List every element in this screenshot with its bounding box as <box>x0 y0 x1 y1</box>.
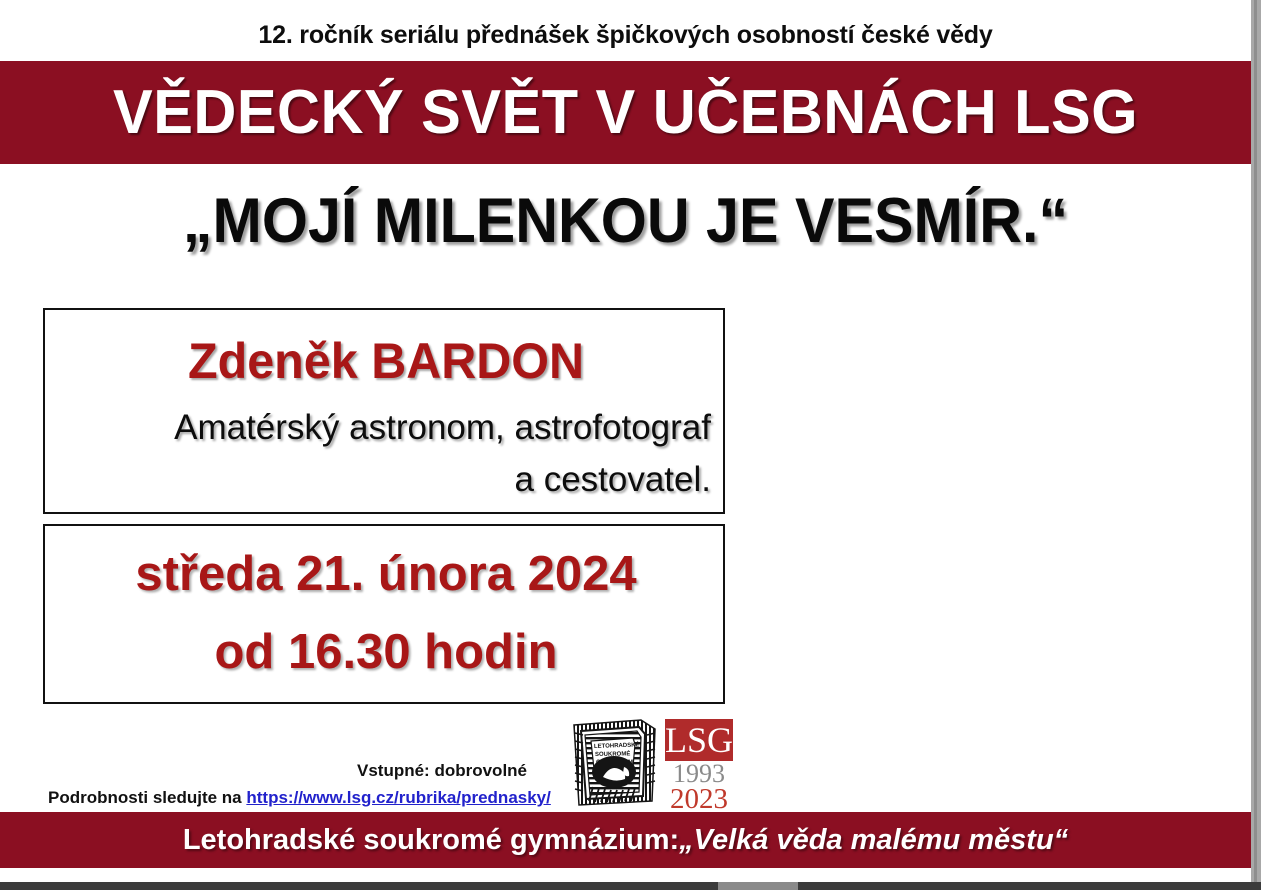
main-title-text: VĚDECKÝ SVĚT V UČEBNÁCH LSG <box>25 61 1226 164</box>
series-kicker-text: 12. ročník seriálu přednášek špičkových … <box>0 21 1251 50</box>
details-line: Podrobnosti sledujte na https://www.lsg.… <box>48 788 551 808</box>
school-logo: LETOHRADSKÉ SOUKROMÉ GYMNÁZIUM <box>569 717 735 812</box>
page-edge-right-line <box>1254 0 1257 890</box>
footer-school-name: Letohradské soukromé gymnázium: <box>183 824 679 857</box>
lecture-headline-quote: „MOJÍ MILENKOU JE VESMÍR.“ <box>38 185 1214 257</box>
school-seal-icon: LETOHRADSKÉ SOUKROMÉ GYMNÁZIUM <box>569 717 663 810</box>
details-prefix-text: Podrobnosti sledujte na <box>48 788 246 807</box>
lsg-badge: LSG 1993 2023 <box>665 719 733 810</box>
footer-banner-text: Letohradské soukromé gymnázium: „Velká v… <box>0 812 1251 868</box>
main-title-banner: VĚDECKÝ SVĚT V UČEBNÁCH LSG <box>0 61 1251 164</box>
page-edge-bottom-segment <box>718 882 798 890</box>
speaker-role-line-2: a cestovatel. <box>45 460 711 500</box>
lectures-page-link[interactable]: https://www.lsg.cz/rubrika/prednasky/ <box>246 788 551 807</box>
speaker-info-box: Zdeněk BARDON Amatérský astronom, astrof… <box>43 308 725 514</box>
event-time: od 16.30 hodin <box>45 624 727 680</box>
lsg-year-current: 2023 <box>665 785 733 814</box>
poster-canvas: 12. ročník seriálu přednášek špičkových … <box>0 0 1261 890</box>
event-datetime-box: středa 21. února 2024 od 16.30 hodin <box>43 524 725 704</box>
page-edge-bottom <box>0 882 1261 890</box>
speaker-role-line-1: Amatérský astronom, astrofotograf <box>45 408 711 448</box>
event-date: středa 21. února 2024 <box>45 546 727 602</box>
speaker-name: Zdeněk BARDON <box>55 332 717 390</box>
lsg-badge-text: LSG <box>665 719 733 761</box>
admission-note: Vstupné: dobrovolné <box>0 761 527 781</box>
footer-banner: Letohradské soukromé gymnázium: „Velká v… <box>0 812 1251 868</box>
footer-motto: „Velká věda malému městu“ <box>679 824 1068 857</box>
